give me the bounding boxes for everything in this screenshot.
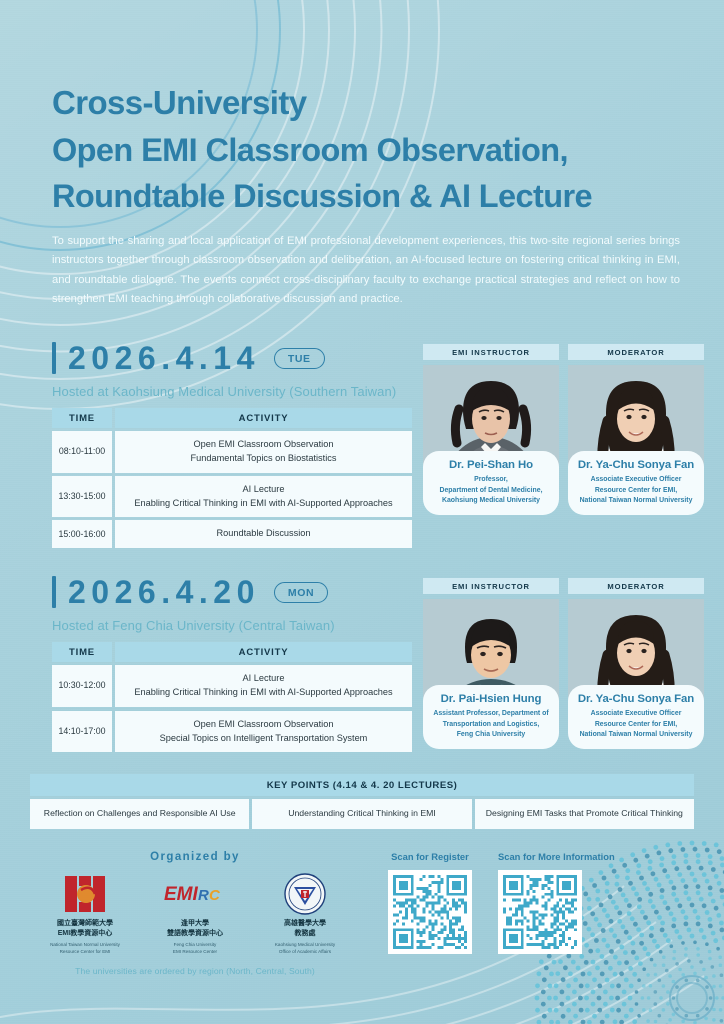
qr-register-label: Scan for Register	[388, 851, 472, 862]
role-badge: EMI INSTRUCTOR	[423, 578, 559, 594]
activity-line-1: Roundtable Discussion	[217, 527, 311, 541]
key-points-heading: KEY POINTS (4.14 & 4. 20 LECTURES)	[30, 774, 694, 796]
affiliation-line-3: National Taiwan Normal University	[574, 496, 698, 506]
organizer-cn-line-2: 雙語教學資源中心	[143, 929, 247, 940]
role-badge: MODERATOR	[568, 578, 704, 594]
activity-line-1: Open EMI Classroom Observation	[194, 718, 334, 732]
session-2-date-row: 2026.4.20 MON	[52, 576, 414, 608]
person-name-card: Dr. Ya-Chu Sonya Fan Associate Executive…	[568, 451, 704, 514]
table-row: 10:30-12:00 AI Lecture Enabling Critical…	[52, 665, 412, 707]
affiliation-line-2: Resource Center for EMI,	[574, 486, 698, 496]
organizer-cn-line-1: 逢甲大學	[143, 919, 247, 930]
key-points-row: Reflection on Challenges and Responsible…	[30, 799, 694, 828]
role-badge: EMI INSTRUCTOR	[423, 344, 559, 360]
organizer-item: 國立臺灣師範大學 EMI教學資源中心 National Taiwan Norma…	[33, 871, 137, 956]
cell-activity: AI Lecture Enabling Critical Thinking in…	[115, 665, 412, 707]
column-header-activity: ACTIVITY	[115, 408, 412, 428]
activity-line-1: Open EMI Classroom Observation	[194, 438, 334, 452]
affiliation-line-2: Resource Center for EMI,	[574, 720, 698, 730]
page-title-line-1: Cross-University	[52, 80, 680, 127]
cell-activity: Open EMI Classroom Observation Fundament…	[115, 431, 412, 473]
organizer-en-line-1: Feng Chia University	[143, 942, 247, 949]
session-block-1: 2026.4.14 TUE Hosted at Kaohsiung Medica…	[0, 342, 724, 548]
cell-time: 13:30-15:00	[52, 476, 112, 518]
person-name: Dr. Pei-Shan Ho	[429, 458, 553, 472]
organizer-name-cn: 高雄醫學大學 教務處	[253, 919, 357, 940]
qr-more-info[interactable]	[498, 870, 582, 954]
affiliation-line-2: Transportation and Logistics,	[429, 720, 553, 730]
emirc-logo-icon: EMI R C	[143, 871, 247, 917]
organizers-block: Organized by	[30, 851, 360, 977]
person-name-card: Dr. Pai-Hsien Hung Assistant Professor, …	[423, 685, 559, 748]
session-2-schedule-table: TIME ACTIVITY 10:30-12:00 AI Lecture Ena…	[52, 642, 412, 752]
cell-time: 14:10-17:00	[52, 711, 112, 753]
role-badge: MODERATOR	[568, 344, 704, 360]
organizer-en-line-2: EMI Resource Center	[143, 949, 247, 956]
organizer-name-en: Kaohsiung Medical University Office of A…	[253, 942, 357, 956]
affiliation-line-1: Associate Executive Officer	[574, 475, 698, 485]
key-points-section: KEY POINTS (4.14 & 4. 20 LECTURES) Refle…	[30, 774, 694, 828]
activity-line-2: Special Topics on Intelligent Transporta…	[160, 732, 368, 746]
activity-line-2: Enabling Critical Thinking in EMI with A…	[134, 497, 392, 511]
affiliation-line-1: Associate Executive Officer	[574, 709, 698, 719]
session-1-day-badge: TUE	[274, 348, 325, 369]
session-2-day-badge: MON	[274, 582, 328, 603]
column-header-activity: ACTIVITY	[115, 642, 412, 662]
person-affiliation: Associate Executive Officer Resource Cen…	[574, 709, 698, 740]
session-1-hosted-at: Hosted at Kaohsiung Medical University (…	[52, 384, 414, 399]
ntnu-rcei-logo-icon	[33, 871, 137, 917]
affiliation-line-2: Department of Dental Medicine,	[429, 486, 553, 496]
poster-header: Cross-University Open EMI Classroom Obse…	[0, 0, 724, 309]
cell-time: 15:00-16:00	[52, 520, 112, 548]
svg-text:R: R	[198, 887, 209, 904]
organizer-item: EMI R C 逢甲大學 雙語教學資源中心 Feng Chia Universi…	[143, 871, 247, 956]
qr-codes-block: Scan for Register Scan for More Informat…	[360, 851, 694, 977]
cell-activity: AI Lecture Enabling Critical Thinking in…	[115, 476, 412, 518]
date-accent-bar	[52, 342, 56, 374]
table-row: 13:30-15:00 AI Lecture Enabling Critical…	[52, 476, 412, 518]
session-1-schedule-table: TIME ACTIVITY 08:10-11:00 Open EMI Class…	[52, 408, 412, 548]
person-affiliation: Associate Executive Officer Resource Cen…	[574, 475, 698, 506]
table-header-row: TIME ACTIVITY	[52, 642, 412, 662]
affiliation-line-3: Feng Chia University	[429, 730, 553, 740]
cell-activity: Open EMI Classroom Observation Special T…	[115, 711, 412, 753]
person-name: Dr. Ya-Chu Sonya Fan	[574, 692, 698, 706]
organizer-en-line-2: Resource Center for EMI	[33, 949, 137, 956]
qr-more-info-item: Scan for More Information	[498, 851, 615, 977]
organizer-name-en: National Taiwan Normal University Resour…	[33, 942, 137, 956]
page-title-line-2: Open EMI Classroom Observation,	[52, 127, 680, 173]
person-name-card: Dr. Pei-Shan Ho Professor, Department of…	[423, 451, 559, 514]
organizer-cn-line-2: EMI教學資源中心	[33, 929, 137, 940]
person-affiliation: Assistant Professor, Department of Trans…	[429, 709, 553, 740]
table-row: 08:10-11:00 Open EMI Classroom Observati…	[52, 431, 412, 473]
affiliation-line-1: Professor,	[429, 475, 553, 485]
qr-register[interactable]	[388, 870, 472, 954]
key-point-item: Reflection on Challenges and Responsible…	[30, 799, 249, 828]
affiliation-line-3: Kaohsiung Medical University	[429, 496, 553, 506]
person-card: EMI INSTRUCTOR	[423, 578, 559, 748]
table-header-row: TIME ACTIVITY	[52, 408, 412, 428]
svg-text:C: C	[209, 887, 221, 904]
person-card: MODERATOR	[568, 344, 704, 514]
session-2-date: 2026.4.20	[68, 576, 260, 608]
key-point-item: Understanding Critical Thinking in EMI	[252, 799, 471, 828]
organizer-name-cn: 逢甲大學 雙語教學資源中心	[143, 919, 247, 940]
qr-register-item: Scan for Register	[388, 851, 472, 977]
column-header-time: TIME	[52, 408, 112, 428]
activity-line-2: Enabling Critical Thinking in EMI with A…	[134, 686, 392, 700]
page-title-line-3: Roundtable Discussion & AI Lecture	[52, 173, 680, 219]
intro-paragraph: To support the sharing and local applica…	[52, 232, 680, 309]
organizer-en-line-1: National Taiwan Normal University	[33, 942, 137, 949]
organizer-order-note: The universities are ordered by region (…	[30, 966, 360, 976]
person-name: Dr. Ya-Chu Sonya Fan	[574, 458, 698, 472]
person-card: EMI INSTRUCTOR	[423, 344, 559, 514]
organized-by-label: Organized by	[30, 851, 360, 863]
key-point-item: Designing EMI Tasks that Promote Critica…	[475, 799, 694, 828]
organizer-en-line-2: Office of Academic Affairs	[253, 949, 357, 956]
affiliation-line-1: Assistant Professor, Department of	[429, 709, 553, 719]
affiliation-line-3: National Taiwan Normal University	[574, 730, 698, 740]
organizer-item: 高雄醫學大學 教務處 Kaohsiung Medical University …	[253, 871, 357, 956]
session-1-date: 2026.4.14	[68, 342, 260, 374]
organizer-cn-line-2: 教務處	[253, 929, 357, 940]
person-name: Dr. Pai-Hsien Hung	[429, 692, 553, 706]
svg-text:EMI: EMI	[164, 884, 199, 905]
activity-line-1: AI Lecture	[243, 672, 285, 686]
session-2-hosted-at: Hosted at Feng Chia University (Central …	[52, 618, 414, 633]
cell-time: 08:10-11:00	[52, 431, 112, 473]
activity-line-2: Fundamental Topics on Biostatistics	[191, 452, 337, 466]
person-name-card: Dr. Ya-Chu Sonya Fan Associate Executive…	[568, 685, 704, 748]
organizer-cn-line-1: 高雄醫學大學	[253, 919, 357, 930]
table-row: 14:10-17:00 Open EMI Classroom Observati…	[52, 711, 412, 753]
session-block-2: 2026.4.20 MON Hosted at Feng Chia Univer…	[0, 576, 724, 752]
cell-time: 10:30-12:00	[52, 665, 112, 707]
qr-more-info-label: Scan for More Information	[498, 851, 615, 862]
organizer-logo-row: 國立臺灣師範大學 EMI教學資源中心 National Taiwan Norma…	[30, 871, 360, 956]
poster-root: Cross-University Open EMI Classroom Obse…	[0, 0, 724, 1024]
column-header-time: TIME	[52, 642, 112, 662]
organizer-name-en: Feng Chia University EMI Resource Center	[143, 942, 247, 956]
date-accent-bar	[52, 576, 56, 608]
organizer-cn-line-1: 國立臺灣師範大學	[33, 919, 137, 930]
activity-line-1: AI Lecture	[243, 483, 285, 497]
person-card: MODERATOR	[568, 578, 704, 748]
kmu-crest-logo-icon	[253, 871, 357, 917]
person-affiliation: Professor, Department of Dental Medicine…	[429, 475, 553, 506]
table-row: 15:00-16:00 Roundtable Discussion	[52, 520, 412, 548]
organizer-name-cn: 國立臺灣師範大學 EMI教學資源中心	[33, 919, 137, 940]
organizer-en-line-1: Kaohsiung Medical University	[253, 942, 357, 949]
cell-activity: Roundtable Discussion	[115, 520, 412, 548]
poster-footer: Organized by	[0, 851, 724, 977]
session-1-date-row: 2026.4.14 TUE	[52, 342, 414, 374]
